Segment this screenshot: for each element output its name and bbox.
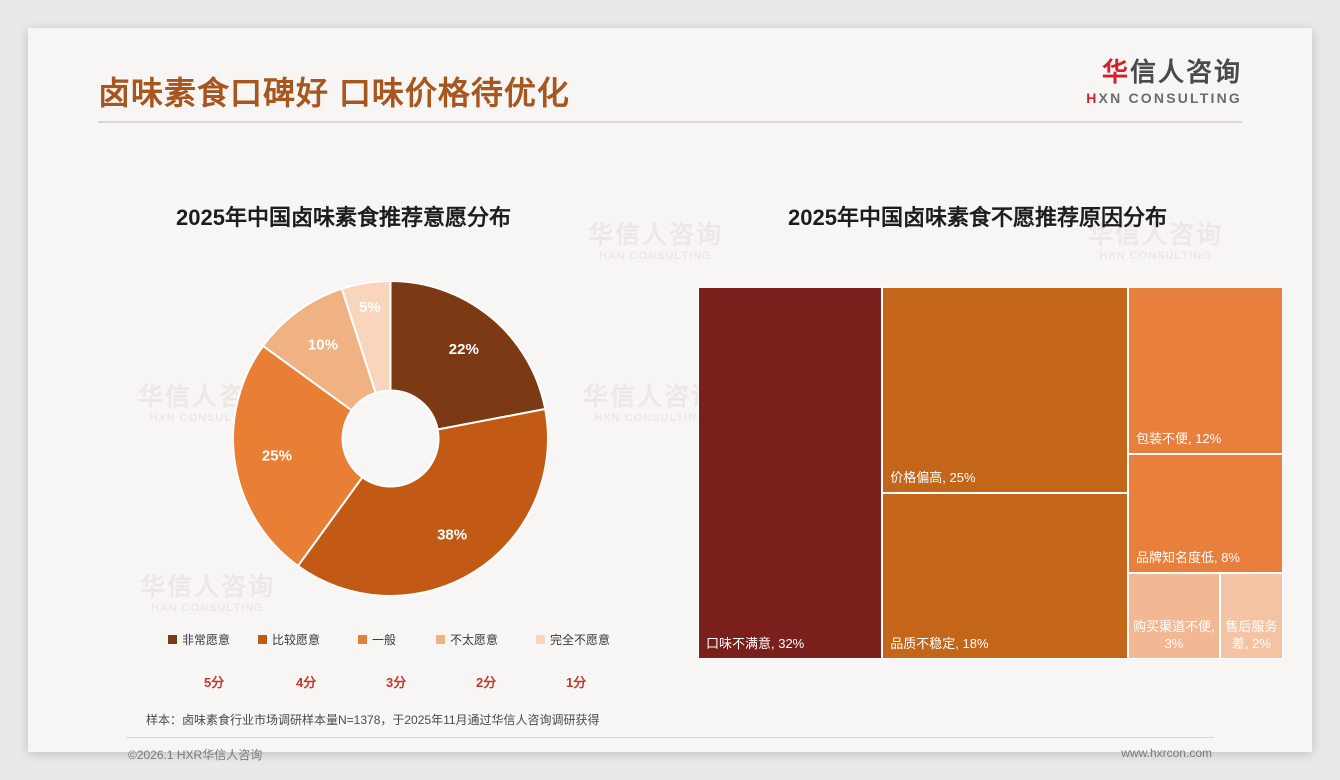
footer-divider [126, 737, 1214, 738]
legend-item-label: 比较愿意 [272, 631, 320, 648]
legend-score-一般: 3分 [386, 672, 406, 691]
donut-slice-label: 38% [437, 527, 467, 544]
legend-score-非常愿意: 5分 [204, 672, 224, 691]
legend-swatch-icon [358, 635, 367, 644]
legend-item-label: 不太愿意 [450, 631, 498, 648]
right-chart-title: 2025年中国卤味素食不愿推荐原因分布 [788, 200, 1167, 232]
treemap-tile-label: 口味不满意, 32% [706, 636, 877, 652]
donut-score-row: 5分4分3分2分1分 [168, 672, 648, 692]
donut-chart: 22%38%25%10%5% [233, 281, 548, 596]
donut-chart-svg: 22%38%25%10%5% [233, 281, 548, 596]
treemap-tile-品质不稳定[interactable]: 品质不稳定, 18% [882, 493, 1128, 659]
legend-item-label: 非常愿意 [182, 631, 230, 648]
legend-item-完全不愿意[interactable]: 完全不愿意 [536, 631, 610, 648]
legend-item-非常愿意[interactable]: 非常愿意 [168, 631, 230, 648]
legend-swatch-icon [536, 635, 545, 644]
watermark-line-2: HXN CONSULTING [140, 602, 275, 615]
treemap-chart: 口味不满意, 32%价格偏高, 25%品质不稳定, 18%包装不便, 12%品牌… [698, 287, 1283, 659]
legend-item-一般[interactable]: 一般 [358, 631, 396, 648]
left-chart-title: 2025年中国卤味素食推荐意愿分布 [176, 200, 511, 232]
donut-legend: 非常愿意比较愿意一般不太愿意完全不愿意 [168, 631, 648, 651]
legend-item-label: 一般 [372, 631, 396, 648]
donut-slice-label: 25% [262, 447, 292, 464]
brand-logo: 华信人咨询 HXN CONSULTING [1086, 58, 1242, 106]
legend-score-完全不愿意: 1分 [566, 672, 586, 691]
treemap-tile-label: 价格偏高, 25% [890, 470, 1123, 486]
legend-item-不太愿意[interactable]: 不太愿意 [436, 631, 498, 648]
watermark: 华信人咨询 HXN CONSULTING [588, 221, 723, 262]
treemap-tile-购买渠道不便[interactable]: 购买渠道不便, 3% [1128, 573, 1220, 659]
legend-swatch-icon [168, 635, 177, 644]
logo-chinese: 华信人咨询 [1086, 58, 1242, 87]
legend-item-比较愿意[interactable]: 比较愿意 [258, 631, 320, 648]
treemap-tile-label: 售后服务差, 2% [1224, 619, 1279, 652]
donut-slice-label: 22% [449, 341, 479, 358]
treemap-tile-售后服务差[interactable]: 售后服务差, 2% [1220, 573, 1283, 659]
logo-english: HXN CONSULTING [1086, 90, 1242, 106]
watermark-line-2: HXN CONSULTING [1088, 250, 1223, 263]
watermark-line-2: HXN CONSULTING [588, 250, 723, 263]
donut-slice-label: 5% [359, 299, 381, 316]
treemap-tile-品牌知名度低[interactable]: 品牌知名度低, 8% [1128, 454, 1283, 573]
legend-swatch-icon [258, 635, 267, 644]
donut-slice-label: 10% [308, 336, 338, 353]
slide-header: 卤味素食口碑好 口味价格待优化 华信人咨询 HXN CONSULTING [28, 28, 1312, 126]
treemap-tile-label: 品牌知名度低, 8% [1136, 550, 1278, 566]
legend-score-不太愿意: 2分 [476, 672, 496, 691]
page-title: 卤味素食口碑好 口味价格待优化 [98, 68, 570, 114]
logo-english-accent: H [1086, 90, 1098, 106]
website-link[interactable]: www.hxrcon.com [1121, 746, 1212, 760]
legend-item-label: 完全不愿意 [550, 631, 610, 648]
header-divider [98, 121, 1242, 123]
legend-score-比较愿意: 4分 [296, 672, 316, 691]
treemap-tile-价格偏高[interactable]: 价格偏高, 25% [882, 287, 1128, 493]
copyright-text: ©2026.1 HXR华信人咨询 [128, 746, 262, 763]
logo-chinese-rest: 信人咨询 [1130, 57, 1242, 87]
treemap-tile-label: 品质不稳定, 18% [890, 636, 1123, 652]
logo-chinese-accent: 华 [1102, 57, 1130, 87]
source-note: 样本：卤味素食行业市场调研样本量N=1378，于2025年11月通过华信人咨询调… [146, 711, 600, 728]
logo-english-rest: XN CONSULTING [1099, 90, 1242, 106]
slide-canvas: 华信人咨询 HXN CONSULTING 华信人咨询 HXN CONSULTIN… [28, 28, 1312, 752]
legend-swatch-icon [436, 635, 445, 644]
watermark-line-1: 华信人咨询 [588, 221, 723, 250]
treemap-tile-label: 包装不便, 12% [1136, 431, 1278, 447]
treemap-tile-label: 购买渠道不便, 3% [1132, 619, 1216, 652]
treemap-tile-口味不满意[interactable]: 口味不满意, 32% [698, 287, 882, 659]
treemap-tile-包装不便[interactable]: 包装不便, 12% [1128, 287, 1283, 454]
